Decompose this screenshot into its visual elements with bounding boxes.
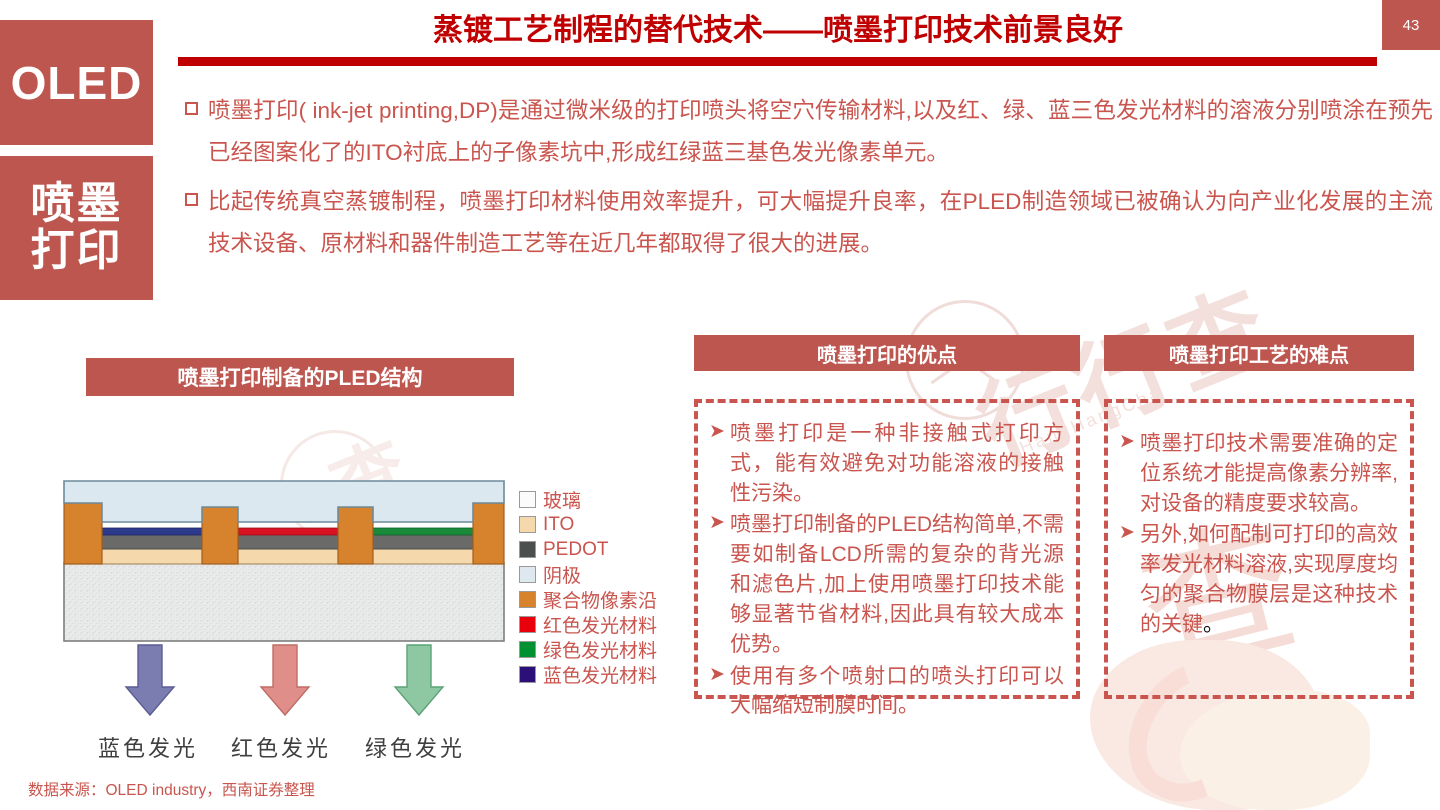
panel-item-text: 喷墨打印制备的PLED结构简单,不需要如制备LCD所需的复杂的背光源和滤色片,加… [730,510,1064,659]
panel-item-text-with-mark: 另外,如何配制可打印的高效率发光材料溶液,实现厚度均匀的聚合物膜层是这种技术的关… [1140,520,1398,639]
slide-root: 行行查 HangHangCha 查 查 OLED 喷墨打印 43 蒸镀工艺制程的… [0,0,1440,810]
legend-swatch-glass [519,491,536,508]
body-bullet-text: 比起传统真空蒸镀制程，喷墨打印材料使用效率提升，可大幅提升良率，在PLED制造领… [208,181,1433,264]
emission-label-blue: 蓝色发光 [98,731,198,763]
legend-item: PEDOT [519,537,657,562]
page-number-value: 43 [1403,17,1420,34]
panel-list-item: ➤ 喷墨打印技术需要准确的定位系统才能提高像素分辨率,对设备的精度要求较高。 [1114,429,1398,518]
legend-label: 红色发光材料 [543,611,657,638]
panel-advantages-body: ➤ 喷墨打印是一种非接触式打印方式，能有效避免对功能溶液的接触性污染。 ➤ 喷墨… [694,399,1080,699]
legend-swatch-blue-emitter [519,666,536,683]
legend-label: PEDOT [543,539,608,561]
legend-swatch-red-emitter [519,616,536,633]
legend-swatch-pedot [519,541,536,558]
panel-item-text: 喷墨打印是一种非接触式打印方式，能有效避免对功能溶液的接触性污染。 [730,419,1064,508]
legend-item: ITO [519,512,657,537]
square-bullet-icon [185,102,198,115]
page-number-badge: 43 [1382,0,1440,50]
panel-list-item: ➤ 使用有多个喷射口的喷头打印可以大幅缩短制膜时间。 [704,662,1064,722]
panel-advantages-title: 喷墨打印的优点 [817,339,957,368]
body-bullet-item: 比起传统真空蒸镀制程，喷墨打印材料使用效率提升，可大幅提升良率，在PLED制造领… [185,181,1433,264]
panel-difficulties: 喷墨打印工艺的难点 ➤ 喷墨打印技术需要准确的定位系统才能提高像素分辨率,对设备… [1104,335,1414,699]
diagram-title-label: 喷墨打印制备的PLED结构 [177,362,422,392]
arrow-bullet-icon: ➤ [704,419,730,508]
legend-item: 聚合物像素沿 [519,587,657,612]
panel-difficulties-body: ➤ 喷墨打印技术需要准确的定位系统才能提高像素分辨率,对设备的精度要求较高。 ➤… [1104,399,1414,699]
panel-list-item: ➤ 喷墨打印是一种非接触式打印方式，能有效避免对功能溶液的接触性污染。 [704,419,1064,508]
panel-advantages-header: 喷墨打印的优点 [694,335,1080,371]
emission-label-green: 绿色发光 [365,731,465,763]
legend-item: 红色发光材料 [519,612,657,637]
legend-swatch-cathode [519,566,536,583]
page-title: 蒸镀工艺制程的替代技术——喷墨打印技术前景良好 [178,8,1378,53]
arrow-bullet-icon: ➤ [1114,520,1140,639]
diagram-title-banner: 喷墨打印制备的PLED结构 [86,358,514,396]
legend-item: 玻璃 [519,487,657,512]
panel-difficulties-header: 喷墨打印工艺的难点 [1104,335,1414,371]
legend-item: 绿色发光材料 [519,637,657,662]
trailing-period-mark: 。 [1203,613,1224,636]
diagram-legend: 玻璃 ITO PEDOT 阴极 聚合物像素沿 红色发光材料 绿色发光材料 蓝色 [519,487,657,687]
sidebar-item-inkjet-label: 喷墨打印 [31,181,123,274]
legend-swatch-green-emitter [519,641,536,658]
legend-label: 阴极 [543,561,581,588]
legend-label: 聚合物像素沿 [543,586,657,613]
panel-item-text: 使用有多个喷射口的喷头打印可以大幅缩短制膜时间。 [730,662,1064,722]
legend-label: 绿色发光材料 [543,636,657,663]
watermark-flower-shape-b [1180,690,1370,810]
sidebar-item-inkjet: 喷墨打印 [0,156,153,300]
panel-difficulties-title: 喷墨打印工艺的难点 [1169,339,1349,368]
panel-advantages: 喷墨打印的优点 ➤ 喷墨打印是一种非接触式打印方式，能有效避免对功能溶液的接触性… [694,335,1080,699]
legend-label: ITO [543,514,574,536]
sidebar-item-oled-label: OLED [11,56,143,110]
title-underline-rule [178,57,1377,66]
legend-swatch-polymer-bank [519,591,536,608]
body-bullet-item: 喷墨打印( ink-jet printing,DP)是通过微米级的打印喷头将空穴… [185,90,1433,173]
pled-structure-diagram: 蓝色发光 红色发光 绿色发光 [62,475,522,765]
body-bullet-text: 喷墨打印( ink-jet printing,DP)是通过微米级的打印喷头将空穴… [208,90,1433,173]
panel-list-item: ➤ 喷墨打印制备的PLED结构简单,不需要如制备LCD所需的复杂的背光源和滤色片… [704,510,1064,659]
source-note: 数据来源：OLED industry，西南证券整理 [28,778,315,800]
arrow-bullet-icon: ➤ [704,662,730,722]
arrow-bullet-icon: ➤ [1114,429,1140,518]
emission-label-red: 红色发光 [231,731,331,763]
legend-label: 蓝色发光材料 [543,661,657,688]
panel-item-text: 喷墨打印技术需要准确的定位系统才能提高像素分辨率,对设备的精度要求较高。 [1140,429,1398,518]
panel-item-text: 另外,如何配制可打印的高效率发光材料溶液,实现厚度均匀的聚合物膜层是这种技术的关… [1140,523,1398,635]
panel-list-item: ➤ 另外,如何配制可打印的高效率发光材料溶液,实现厚度均匀的聚合物膜层是这种技术… [1114,520,1398,639]
body-bullet-list: 喷墨打印( ink-jet printing,DP)是通过微米级的打印喷头将空穴… [185,90,1433,273]
legend-item: 阴极 [519,562,657,587]
pled-cross-section-svg [62,475,522,730]
legend-label: 玻璃 [543,486,581,513]
legend-item: 蓝色发光材料 [519,662,657,687]
square-bullet-icon [185,193,198,206]
sidebar-item-oled: OLED [0,20,153,145]
arrow-bullet-icon: ➤ [704,510,730,659]
legend-swatch-ito [519,516,536,533]
title-block: 蒸镀工艺制程的替代技术——喷墨打印技术前景良好 [178,8,1378,66]
